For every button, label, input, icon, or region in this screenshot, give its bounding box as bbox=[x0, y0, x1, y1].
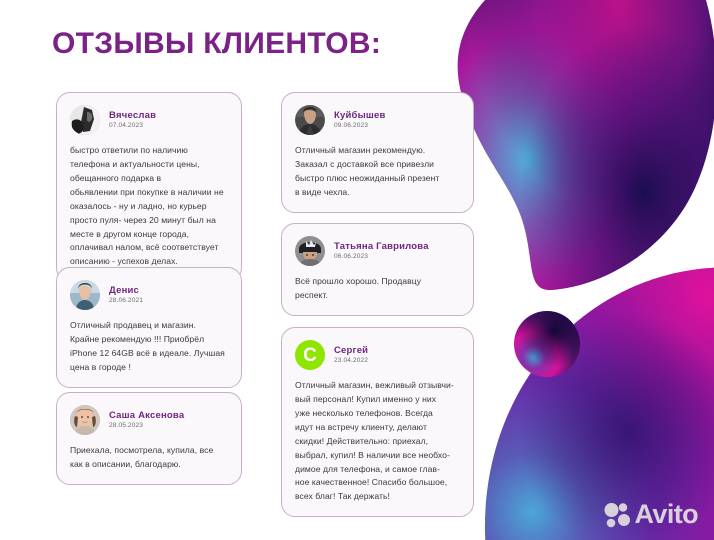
review-text: быстро ответили по наличию телефона и ак… bbox=[70, 144, 228, 269]
review-author-block: Вячеслав 07.04.2023 bbox=[109, 111, 156, 130]
review-author-name: Куйбышев bbox=[334, 111, 386, 121]
review-card-kuibyshev[interactable]: Куйбышев 09.06.2023 Отличный магазин рек… bbox=[281, 92, 474, 213]
review-author-block: Татьяна Гаврилова 06.06.2023 bbox=[334, 242, 429, 261]
review-author-block: Денис 28.06.2021 bbox=[109, 286, 143, 305]
review-date: 28.05.2023 bbox=[109, 422, 184, 429]
review-header: Денис 28.06.2021 bbox=[70, 280, 228, 310]
review-author-block: Сергей 23.04.2022 bbox=[334, 346, 368, 365]
avito-dots-icon bbox=[604, 502, 630, 528]
review-author-name: Саша Аксенова bbox=[109, 411, 184, 421]
avito-logo: Avito bbox=[604, 501, 699, 528]
review-author-name: Сергей bbox=[334, 346, 368, 356]
review-date: 28.06.2021 bbox=[109, 297, 143, 304]
review-text: Отличный магазин, вежливый отзывчи- вый … bbox=[295, 379, 460, 504]
review-date: 23.04.2022 bbox=[334, 357, 368, 364]
review-text: Отличный магазин рекомендую. Заказал с д… bbox=[295, 144, 460, 200]
avatar-sergey: C bbox=[295, 340, 325, 370]
page-title: ОТЗЫВЫ КЛИЕНТОВ: bbox=[52, 27, 381, 61]
avatar-tatyana bbox=[295, 236, 325, 266]
review-author-name: Денис bbox=[109, 286, 143, 296]
review-header: Саша Аксенова 28.05.2023 bbox=[70, 405, 228, 435]
review-author-name: Вячеслав bbox=[109, 111, 156, 121]
review-author-name: Татьяна Гаврилова bbox=[334, 242, 429, 252]
review-header: Куйбышев 09.06.2023 bbox=[295, 105, 460, 135]
review-card-sasha[interactable]: Саша Аксенова 28.05.2023 Приехала, посмо… bbox=[56, 392, 242, 485]
review-header: C Сергей 23.04.2022 bbox=[295, 340, 460, 370]
review-author-block: Куйбышев 09.06.2023 bbox=[334, 111, 386, 130]
review-card-denis[interactable]: Денис 28.06.2021 Отличный продавец и маг… bbox=[56, 267, 242, 388]
avatar-vyacheslav bbox=[70, 105, 100, 135]
review-text: Приехала, посмотрела, купила, все как в … bbox=[70, 444, 228, 472]
blob-top-right bbox=[458, 0, 714, 290]
review-author-block: Саша Аксенова 28.05.2023 bbox=[109, 411, 184, 430]
review-card-vyacheslav[interactable]: Вячеслав 07.04.2023 быстро ответили по н… bbox=[56, 92, 242, 282]
avatar-kuibyshev bbox=[295, 105, 325, 135]
review-date: 06.06.2023 bbox=[334, 253, 429, 260]
review-card-sergey[interactable]: C Сергей 23.04.2022 Отличный магазин, ве… bbox=[281, 327, 474, 517]
avatar-denis bbox=[70, 280, 100, 310]
review-date: 09.06.2023 bbox=[334, 122, 386, 129]
avito-wordmark: Avito bbox=[635, 501, 699, 528]
avatar-sasha bbox=[70, 405, 100, 435]
blob-circle bbox=[514, 311, 580, 377]
review-text: Всё прошло хорошо. Продавцу респект. bbox=[295, 275, 460, 303]
review-card-tatyana[interactable]: Татьяна Гаврилова 06.06.2023 Всё прошло … bbox=[281, 223, 474, 316]
review-date: 07.04.2023 bbox=[109, 122, 156, 129]
review-collage-canvas: ОТЗЫВЫ КЛИЕНТОВ: Вячеслав 07.04.2023 быс… bbox=[0, 0, 714, 540]
review-header: Вячеслав 07.04.2023 bbox=[70, 105, 228, 135]
review-header: Татьяна Гаврилова 06.06.2023 bbox=[295, 236, 460, 266]
review-text: Отличный продавец и магазин. Крайне реко… bbox=[70, 319, 228, 375]
